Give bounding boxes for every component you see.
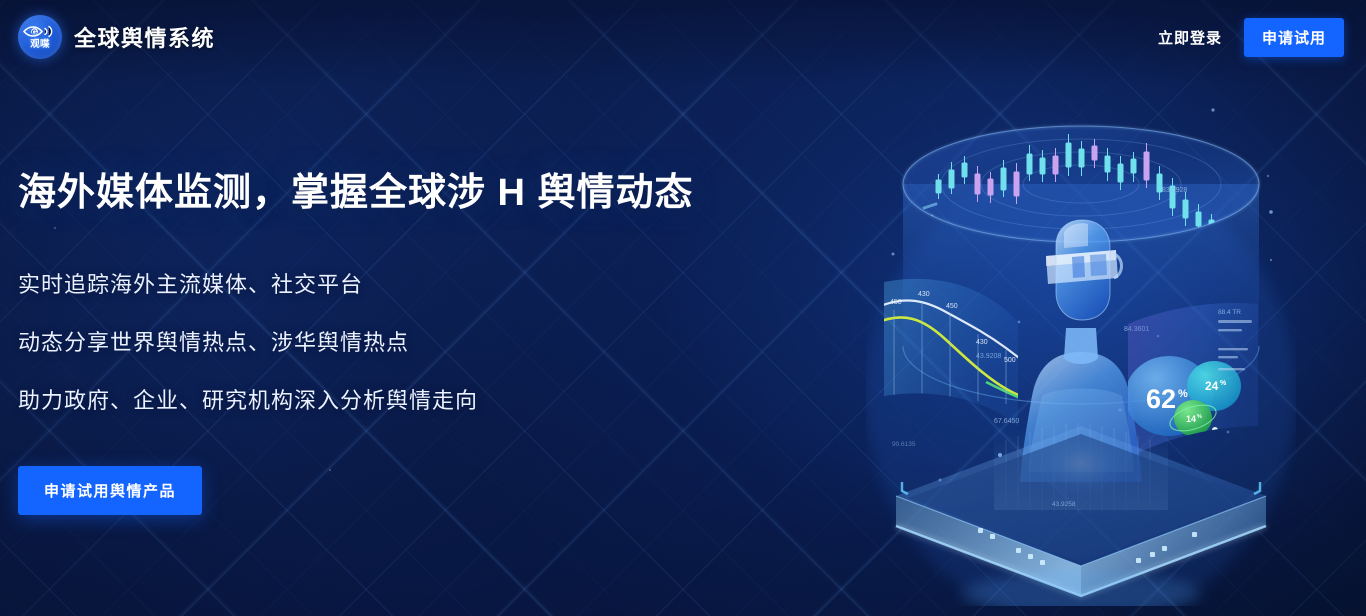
brand-title: 全球舆情系统 (74, 21, 215, 53)
eye-logo-icon: G 观喋 (18, 15, 62, 59)
eye-glyph: G (23, 24, 57, 39)
svg-text:G: G (32, 29, 38, 36)
hero-section: 海外媒体监测，掌握全球涉 H 舆情动态 实时追踪海外主流媒体、社交平台 动态分享… (18, 170, 694, 515)
hero-bullet-1: 实时追踪海外主流媒体、社交平台 (18, 274, 694, 296)
hero-cta-button[interactable]: 申请试用舆情产品 (18, 466, 202, 515)
login-link[interactable]: 立即登录 (1158, 27, 1222, 48)
hero-bullet-list: 实时追踪海外主流媒体、社交平台 动态分享世界舆情热点、涉华舆情热点 助力政府、企… (18, 274, 694, 412)
page-title: 海外媒体监测，掌握全球涉 H 舆情动态 (18, 170, 694, 218)
hero-bullet-2: 动态分享世界舆情热点、涉华舆情热点 (18, 332, 694, 354)
brand-logo[interactable]: G 观喋 全球舆情系统 (18, 15, 215, 59)
logo-sub-text: 观喋 (30, 40, 50, 50)
site-header: G 观喋 全球舆情系统 立即登录 申请试用 (0, 0, 1366, 74)
hero-bullet-3: 助力政府、企业、研究机构深入分析舆情走向 (18, 390, 694, 412)
apply-trial-button[interactable]: 申请试用 (1244, 18, 1344, 57)
header-actions: 立即登录 申请试用 (1158, 18, 1344, 57)
